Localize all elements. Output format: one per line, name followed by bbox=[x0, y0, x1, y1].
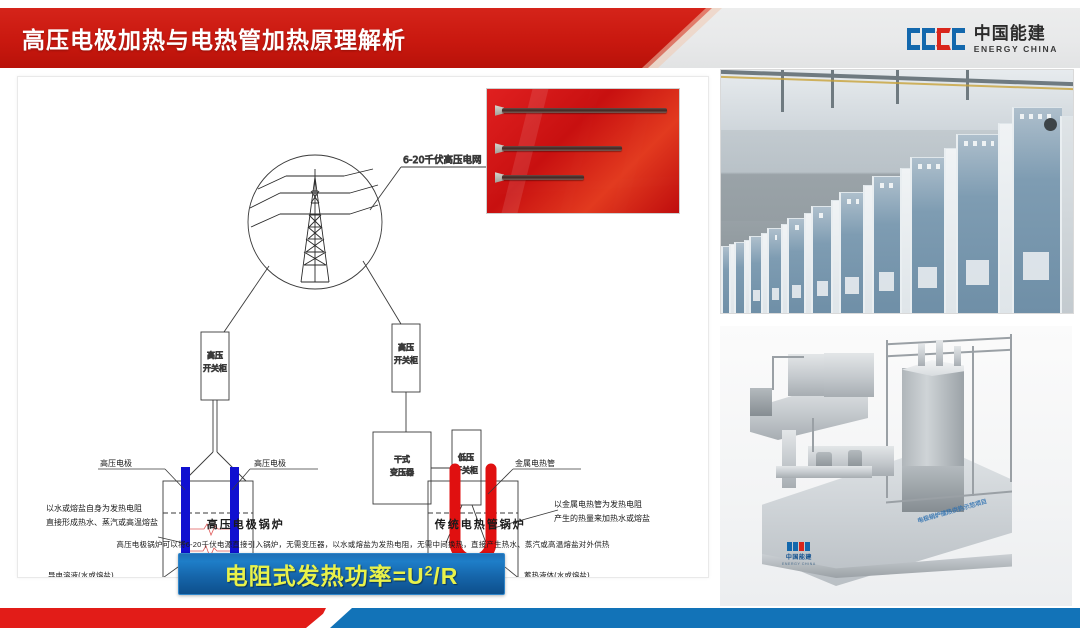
slide-root: 高压电极加热与电热管加热原理解析 中国能建 ENERGY CHINA bbox=[0, 0, 1080, 634]
model-base-ceec-logo: 中国能建 ENERGY CHINA bbox=[782, 542, 816, 566]
model-logo-mark-icon bbox=[787, 542, 810, 551]
ceec-logo-mark-icon bbox=[907, 28, 965, 50]
photo-plant-3d-model: 中国能建 ENERGY CHINA 电极锅炉储热供热示范项目 bbox=[720, 326, 1072, 606]
formula-tail: /R bbox=[433, 563, 458, 589]
right-boiler-note-1: 以金属电热管为发热电阻 bbox=[554, 499, 642, 509]
grid-label: 6-20千伏高压电网 bbox=[403, 154, 482, 166]
logo-en-text: ENERGY CHINA bbox=[974, 45, 1058, 54]
hv-bus-left bbox=[213, 400, 217, 452]
model-logo-cn: 中国能建 bbox=[786, 552, 812, 561]
hv-switchgear-right-label-1: 高压 bbox=[398, 342, 414, 352]
slide-header: 高压电极加热与电热管加热原理解析 中国能建 ENERGY CHINA bbox=[0, 8, 1080, 68]
dry-transformer-label-2: 变压器 bbox=[390, 467, 414, 477]
slide-footer-stripe bbox=[0, 608, 1080, 628]
footer-blue-segment bbox=[330, 608, 1080, 628]
arc-1 bbox=[190, 524, 230, 535]
hv-electrode-right-bar bbox=[230, 467, 239, 567]
metal-tube-label: 金属电热管 bbox=[515, 458, 555, 468]
hv-switchgear-left-label-2: 开关柜 bbox=[203, 363, 227, 373]
ceec-logo: 中国能建 ENERGY CHINA bbox=[907, 21, 1058, 57]
branch-left bbox=[224, 266, 269, 332]
right-boiler-note-2: 产生的热量来加热水或熔盐 bbox=[554, 513, 650, 523]
hv-electrode-label-right: 高压电极 bbox=[254, 458, 286, 468]
grid-leader-line bbox=[370, 167, 401, 210]
left-boiler-note-1: 以水或熔盐自身为发热电阻 bbox=[46, 503, 142, 513]
dry-transformer-label-1: 干式 bbox=[394, 454, 410, 464]
right-liquid-leader bbox=[505, 567, 521, 577]
formula-banner: 电阻式发热功率=U2/R bbox=[178, 553, 505, 595]
diagram-footnote: 高压电极锅炉可以将6-20千伏电源直接引入锅炉，无需变压器，以水或熔盐为发热电阻… bbox=[18, 539, 708, 550]
logo-cn-text: 中国能建 bbox=[974, 25, 1058, 42]
left-boiler-liquid-label: 导电溶液(水或熔盐) bbox=[48, 570, 114, 577]
branch-right bbox=[363, 261, 401, 324]
hv-electrode-label-left: 高压电极 bbox=[100, 458, 132, 468]
footer-red-segment bbox=[0, 608, 330, 628]
page-title: 高压电极加热与电热管加热原理解析 bbox=[22, 8, 406, 68]
formula-text: 电阻式发热功率=U2/R bbox=[225, 557, 459, 591]
hv-switchgear-right-label-2: 开关柜 bbox=[394, 355, 418, 365]
right-boiler-liquid-label: 蓄热液体(水或熔盐) bbox=[524, 570, 590, 577]
model-logo-en: ENERGY CHINA bbox=[782, 562, 816, 566]
photo-control-cabinets bbox=[720, 69, 1074, 314]
transmission-tower-icon bbox=[250, 169, 378, 282]
hv-switchgear-left-label-1: 高压 bbox=[207, 350, 223, 360]
lv-switchgear-label-1: 低压 bbox=[458, 452, 474, 462]
formula-main: 电阻式发热功率=U bbox=[225, 563, 425, 589]
left-boiler-note-2: 直接形成热水、蒸汽或高温熔盐 bbox=[46, 517, 158, 527]
photo-heating-tubes bbox=[486, 88, 680, 214]
